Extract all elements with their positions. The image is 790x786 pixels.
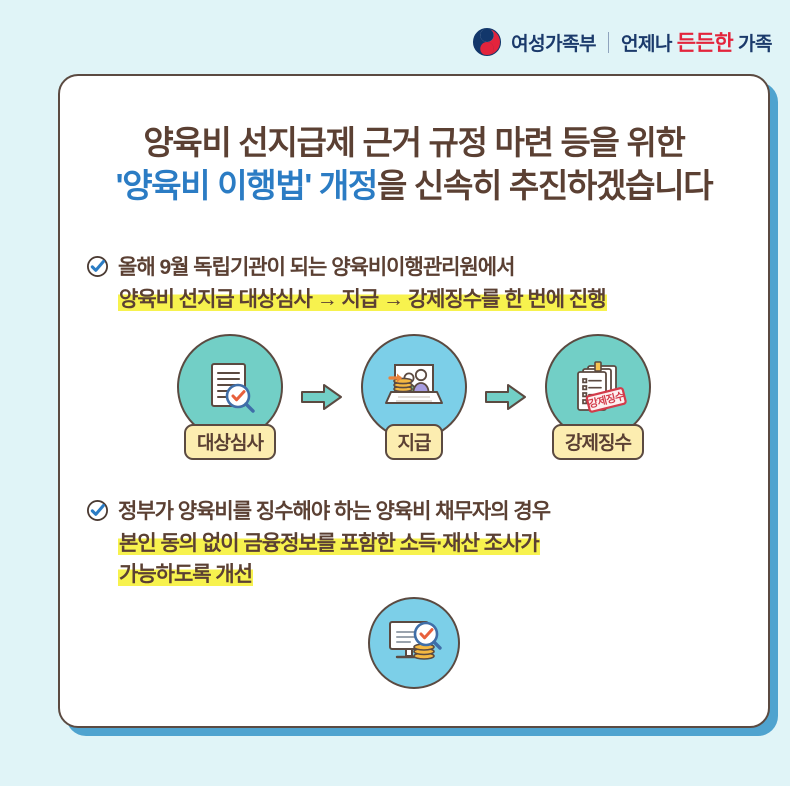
bullet-2-line-2: 본인 동의 없이 금융정보를 포함한 소득·재산 조사가: [118, 528, 742, 560]
bullet-1-line-2: 양육비 선지급 대상심사 → 지급 → 강제징수를 한 번에 진행: [118, 284, 742, 316]
title-line-2-blue: '양육비 이행법' 개정: [116, 167, 377, 204]
bullet-2-row: 정부가 양육비를 징수해야 하는 양육비 채무자의 경우: [86, 496, 742, 528]
document-stamp-icon: 강제징수: [566, 356, 630, 418]
bullet-block-1: 올해 9월 독립기관이 되는 양육비이행관리원에서 양육비 선지급 대상심사 →…: [60, 252, 768, 316]
page-title: 양육비 선지급제 근거 규정 마련 등을 위한 '양육비 이행법' 개정을 신속…: [60, 122, 768, 208]
check-circle-icon: [86, 499, 109, 522]
bullet-2-line-3: 가능하도록 개선: [118, 559, 742, 591]
bottom-icon-circle: [368, 597, 460, 689]
bullet-block-2: 정부가 양육비를 징수해야 하는 양육비 채무자의 경우 본인 동의 없이 금융…: [60, 496, 768, 592]
flow-step-1: 대상심사: [174, 334, 286, 460]
bullet-2-line-1: 정부가 양육비를 징수해야 하는 양육비 채무자의 경우: [118, 496, 550, 528]
title-line-2: '양육비 이행법' 개정을 신속히 추진하겠습니다: [60, 165, 768, 208]
bullet-2-line-3-highlight: 가능하도록 개선: [118, 563, 253, 586]
tagline-part1: 언제나: [621, 34, 672, 55]
bottom-icon-area: [60, 597, 768, 689]
title-line-2-brown: 을 신속히 추진하겠습니다: [377, 167, 712, 204]
bullet-1-line-2-highlight: 양육비 선지급 대상심사 → 지급 → 강제징수를 한 번에 진행: [118, 288, 607, 311]
title-line-1: 양육비 선지급제 근거 규정 마련 등을 위한: [60, 122, 768, 165]
right-arrow-icon: [484, 382, 528, 412]
header-divider: [608, 32, 609, 53]
taegeuk-icon: [472, 27, 502, 57]
flow-step-2: 지급: [358, 334, 470, 460]
tagline-part2: 든든한: [677, 32, 733, 55]
right-arrow-icon: [300, 382, 344, 412]
flow-step-3: 강제징수 강제징수: [542, 334, 654, 460]
tagline: 언제나 든든한 가족: [621, 27, 772, 57]
bullet-1-row: 올해 9월 독립기관이 되는 양육비이행관리원에서: [86, 252, 742, 284]
document-search-icon: [199, 356, 261, 418]
flow-diagram: 대상심사: [60, 334, 768, 460]
content-card: 양육비 선지급제 근거 규정 마련 등을 위한 '양육비 이행법' 개정을 신속…: [58, 74, 770, 728]
ministry-name: 여성가족부: [511, 29, 596, 56]
flow-step-3-label: 강제징수: [552, 424, 644, 460]
monitor-search-coins-icon: [383, 614, 445, 672]
flow-step-1-label: 대상심사: [184, 424, 276, 460]
tagline-part3: 가족: [738, 34, 772, 55]
bullet-2-line-2-highlight: 본인 동의 없이 금융정보를 포함한 소득·재산 조사가: [118, 532, 540, 555]
check-circle-icon: [86, 255, 109, 278]
laptop-people-coins-icon: [381, 356, 447, 418]
header-branding: 여성가족부 언제나 든든한 가족: [472, 22, 772, 62]
flow-step-2-label: 지급: [385, 424, 444, 460]
bullet-1-line-1: 올해 9월 독립기관이 되는 양육비이행관리원에서: [118, 252, 514, 284]
